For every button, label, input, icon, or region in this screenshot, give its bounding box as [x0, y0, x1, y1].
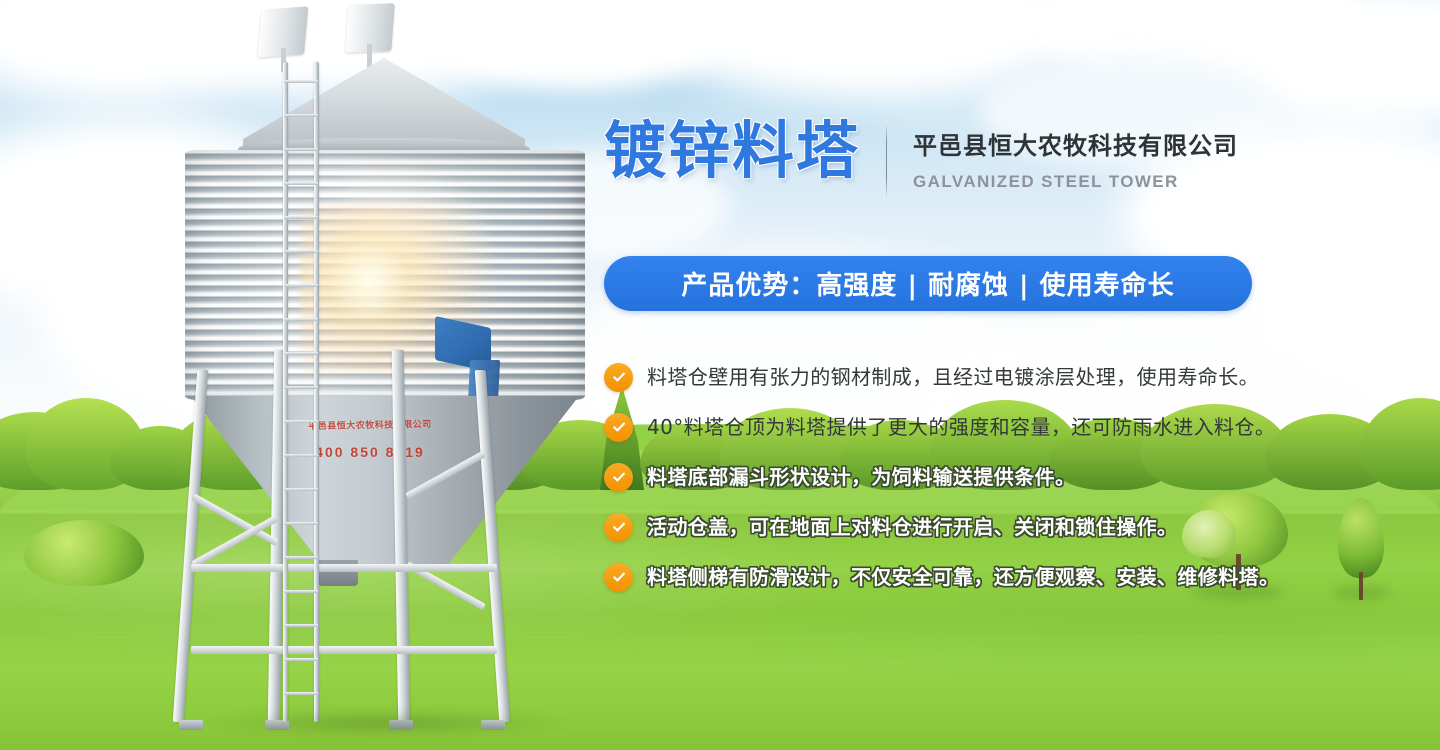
- silo-side-ladder: [283, 62, 319, 722]
- feature-item: 活动仓盖，可在地面上对料仓进行开启、关闭和锁住操作。: [604, 502, 1304, 552]
- silo-body: [185, 150, 585, 400]
- page-title: 镀锌料塔: [604, 118, 860, 183]
- feature-text: 料塔侧梯有防滑设计，不仅安全可靠，还方便观察、安装、维修料塔。: [647, 564, 1279, 590]
- check-circle-icon: [604, 363, 633, 392]
- silo-hopper-cone: [191, 396, 579, 566]
- silo-crossbeam-lower: [191, 646, 497, 654]
- feature-item: 料塔底部漏斗形状设计，为饲料输送提供条件。: [604, 452, 1304, 502]
- company-name-en: GALVANIZED STEEL TOWER: [913, 172, 1238, 192]
- product-hero-banner: 平邑县恒大农牧科技有限公司 400 850 8819: [0, 0, 1440, 750]
- feature-text: 料塔底部漏斗形状设计，为饲料输送提供条件。: [647, 464, 1075, 490]
- company-name: 平邑县恒大农牧科技有限公司: [913, 126, 1238, 161]
- feature-item: 40°料塔仓顶为料塔提供了更大的强度和容量，还可防雨水进入料仓。: [604, 402, 1304, 452]
- title-block: 镀锌料塔 平邑县恒大农牧科技有限公司 GALVANIZED STEEL TOWE…: [604, 118, 1238, 198]
- check-circle-icon: [604, 563, 633, 592]
- advantage-badge: 产品优势：高强度 | 耐腐蚀 | 使用寿命长: [604, 256, 1252, 311]
- feature-text: 料塔仓壁用有张力的钢材制成，且经过电镀涂层处理，使用寿命长。: [647, 364, 1259, 390]
- galvanized-silo-photo: 平邑县恒大农牧科技有限公司 400 850 8819: [95, 0, 565, 750]
- silo-leg-1: [173, 370, 209, 722]
- content-panel: 镀锌料塔 平邑县恒大农牧科技有限公司 GALVANIZED STEEL TOWE…: [604, 0, 1364, 750]
- feature-list: 料塔仓壁用有张力的钢材制成，且经过电镀涂层处理，使用寿命长。 40°料塔仓顶为料…: [604, 352, 1304, 602]
- feature-item: 料塔侧梯有防滑设计，不仅安全可靠，还方便观察、安装、维修料塔。: [604, 552, 1304, 602]
- feature-text: 40°料塔仓顶为料塔提供了更大的强度和容量，还可防雨水进入料仓。: [647, 414, 1275, 440]
- company-block: 平邑县恒大农牧科技有限公司 GALVANIZED STEEL TOWER: [913, 118, 1238, 192]
- title-divider: [886, 124, 887, 198]
- silo-crossbeam-upper: [191, 564, 497, 572]
- feature-text: 活动仓盖，可在地面上对料仓进行开启、关闭和锁住操作。: [647, 514, 1177, 540]
- check-circle-icon: [604, 413, 633, 442]
- silo-ground-shadow: [200, 710, 570, 736]
- feature-item: 料塔仓壁用有张力的钢材制成，且经过电镀涂层处理，使用寿命长。: [604, 352, 1304, 402]
- check-circle-icon: [604, 463, 633, 492]
- check-circle-icon: [604, 513, 633, 542]
- advantage-badge-label: 产品优势：高强度 | 耐腐蚀 | 使用寿命长: [681, 265, 1174, 302]
